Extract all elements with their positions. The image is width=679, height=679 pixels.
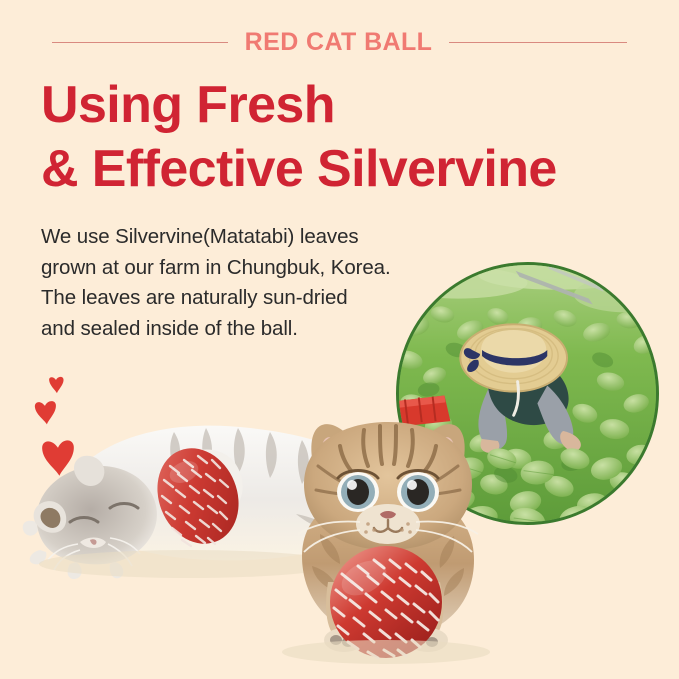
description-line-3: The leaves are naturally sun-dried [41, 283, 461, 314]
kicker-label: RED CAT BALL [245, 30, 433, 55]
kitten-photo [268, 406, 508, 679]
kitten-illustration [268, 406, 508, 679]
headline-line-1: Using Fresh [41, 73, 641, 137]
description-line-1: We use Silvervine(Matatabi) leaves [41, 222, 461, 253]
headline-line-2: & Effective Silvervine [41, 137, 641, 201]
description-text: We use Silvervine(Matatabi) leaves grown… [41, 222, 461, 344]
kicker-row: RED CAT BALL [0, 26, 679, 58]
kicker-rule-left [52, 42, 228, 43]
heart-icon-small [46, 374, 67, 395]
description-line-4: and sealed inside of the ball. [41, 314, 461, 345]
promo-banner: RED CAT BALL Using Fresh & Effective Sil… [0, 0, 679, 679]
description-line-2: grown at our farm in Chungbuk, Korea. [41, 253, 461, 284]
page-title: Using Fresh & Effective Silvervine [41, 73, 641, 202]
heart-icon [46, 374, 67, 395]
kicker-rule-right [449, 42, 627, 43]
